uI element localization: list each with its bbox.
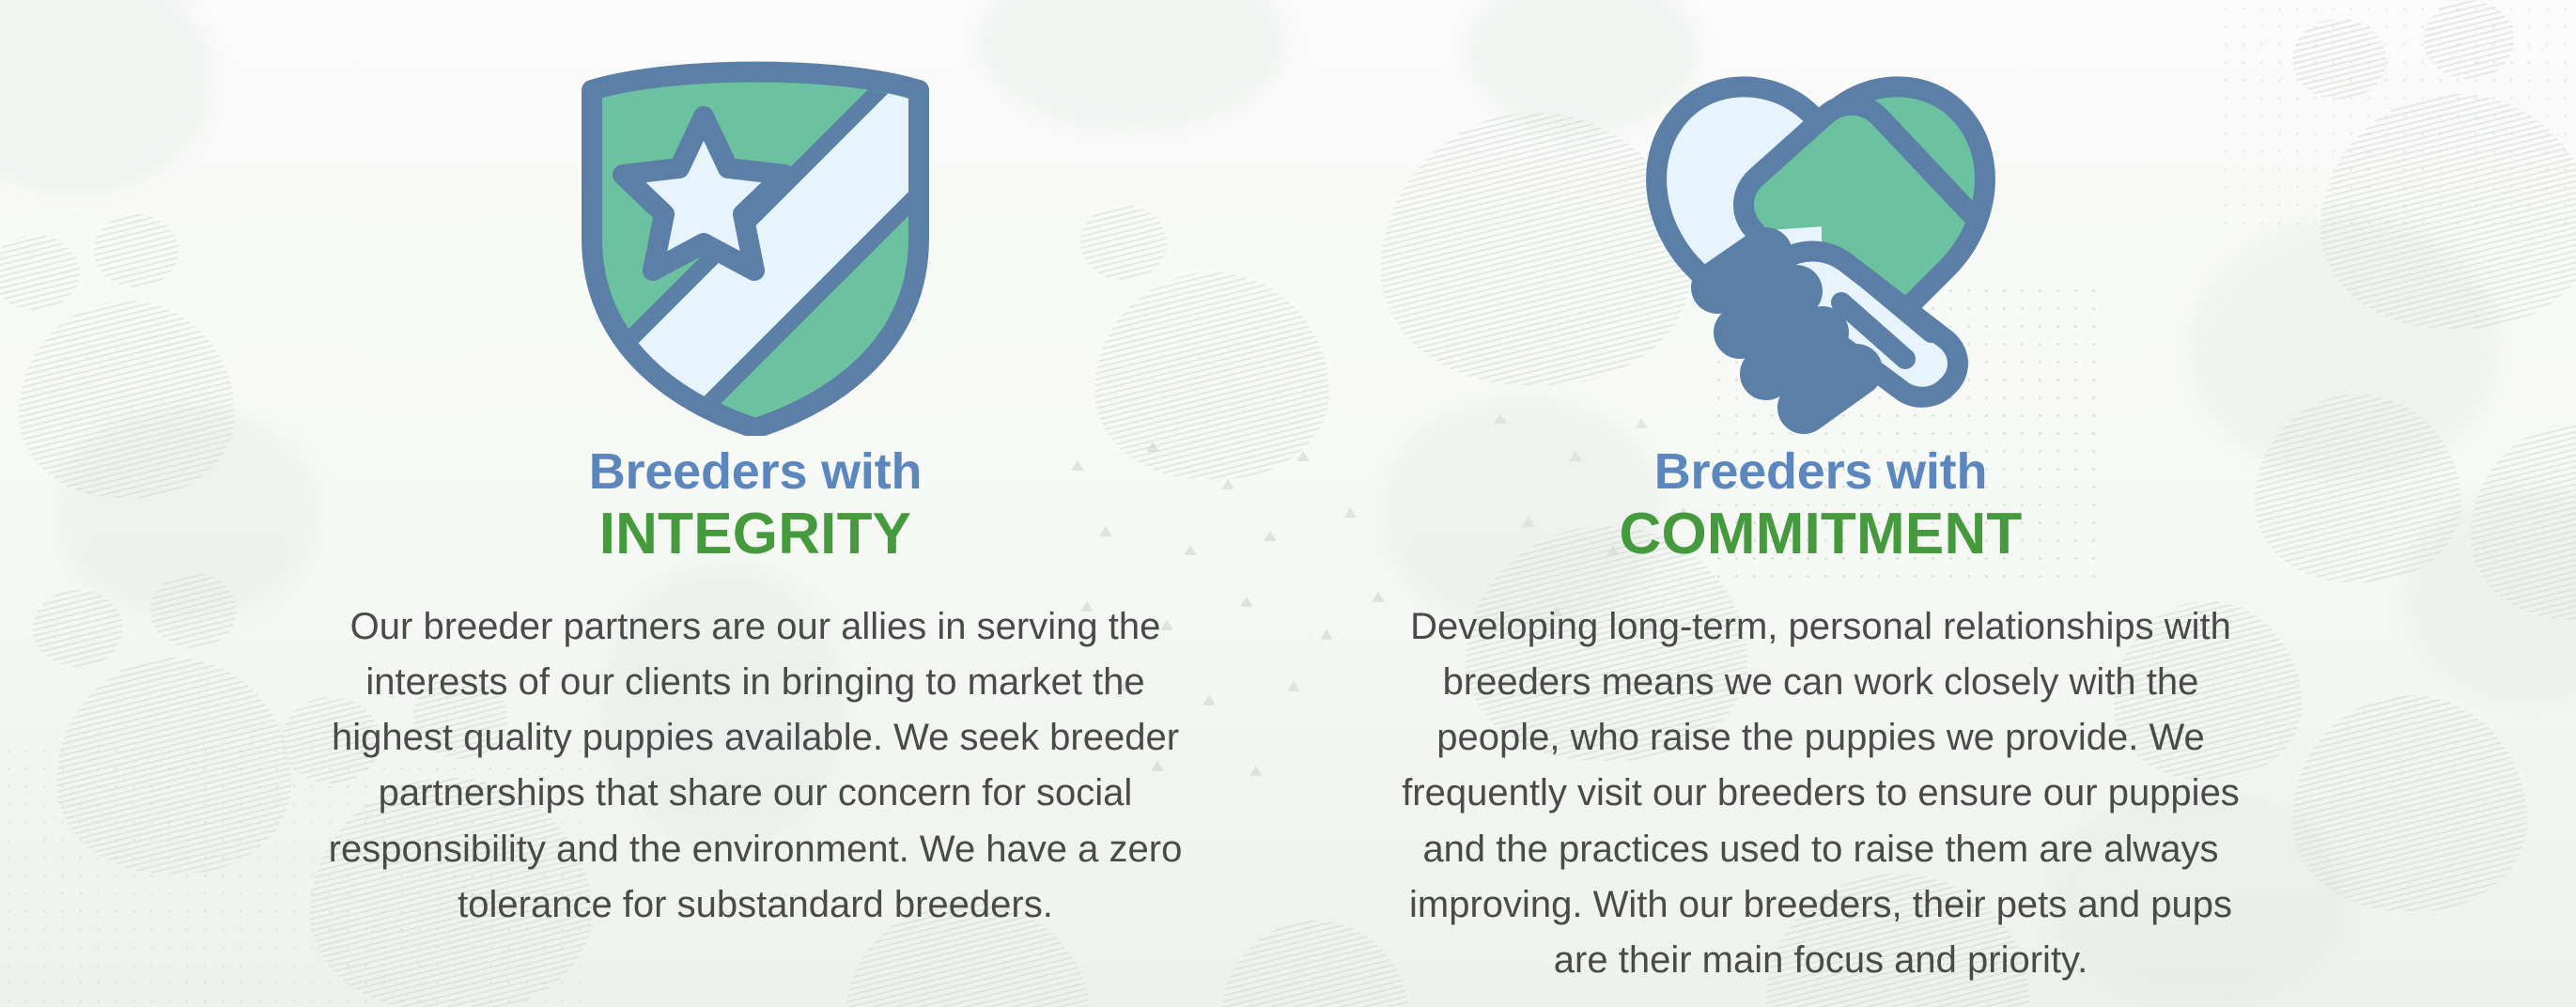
body-paragraph: Developing long-term, personal relations… xyxy=(1389,599,2253,988)
heading-top-line: Breeders with xyxy=(589,443,923,500)
heading-block: Breeders with INTEGRITY xyxy=(589,443,923,567)
body-paragraph: Our breeder partners are our allies in s… xyxy=(323,599,1187,933)
breeder-values-section: Breeders with INTEGRITY Our breeder part… xyxy=(0,0,2576,1007)
value-card-integrity: Breeders with INTEGRITY Our breeder part… xyxy=(282,0,1229,933)
heading-main-line: INTEGRITY xyxy=(589,502,923,566)
heading-main-line: COMMITMENT xyxy=(1619,502,2022,566)
handshake-heart-icon xyxy=(1623,58,2018,436)
shield-star-badge-icon xyxy=(569,58,941,436)
heading-block: Breeders with COMMITMENT xyxy=(1619,443,2022,567)
value-card-commitment: Breeders with COMMITMENT Developing long… xyxy=(1347,0,2294,988)
heading-top-line: Breeders with xyxy=(1619,443,2022,500)
